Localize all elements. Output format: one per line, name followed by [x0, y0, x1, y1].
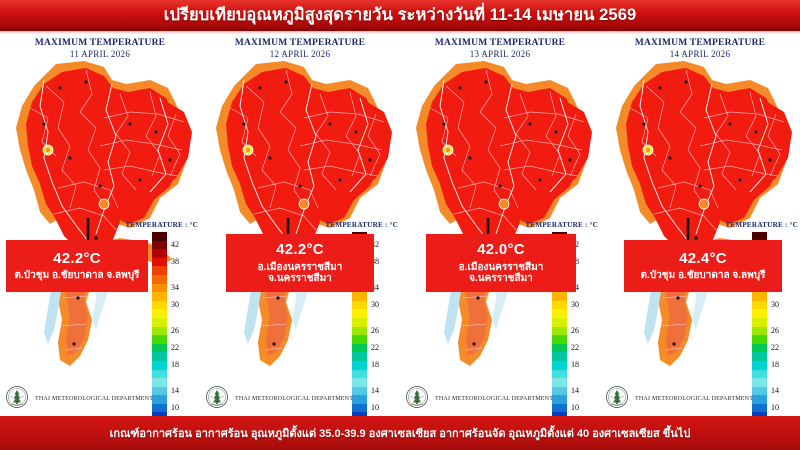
max-temp-callout[interactable]: 42.2°C อ.เมืองนครราชสีมาจ.นครราชสีมา [226, 234, 374, 292]
legend-caption: TEMPERATURE : °C [125, 221, 198, 229]
legend-swatch [152, 275, 167, 284]
legend-tick: 26 [371, 327, 379, 336]
department-name: THAI METEOROLOGICAL DEPARTMENT [35, 396, 153, 402]
legend-tick: 18 [771, 361, 779, 370]
legend-swatch [352, 309, 367, 318]
panel-header: MAXIMUM TEMPERATURE 14 APRIL 2026 [600, 34, 800, 59]
legend-row: 42 [152, 241, 196, 250]
legend-swatch [352, 292, 367, 301]
legend-row [552, 370, 596, 379]
max-temp-location: ต.บัวชุม อ.ชัยบาดาล จ.ลพบุรี [12, 270, 143, 282]
legend-row: 26 [352, 327, 396, 336]
legend-row [352, 309, 396, 318]
department-name: THAI METEOROLOGICAL DEPARTMENT [435, 396, 553, 402]
legend-tick: 22 [171, 344, 179, 353]
department-name: THAI METEOROLOGICAL DEPARTMENT [235, 396, 353, 402]
legend-swatch [552, 335, 567, 344]
legend-swatch [152, 284, 167, 293]
legend-swatch [752, 361, 767, 370]
footer-note: เกณฑ์อากาศร้อน อากาศร้อน อุณหภูมิตั้งแต่… [110, 424, 691, 442]
max-temp-location: อ.เมืองนครราชสีมาจ.นครราชสีมา [456, 262, 547, 285]
legend-row [752, 309, 796, 318]
legend-swatch [152, 266, 167, 275]
legend-swatch [552, 309, 567, 318]
legend-swatch [752, 335, 767, 344]
legend-tick: 22 [771, 344, 779, 353]
panel-footer: THAI METEOROLOGICAL DEPARTMENT [600, 384, 800, 414]
legend-row: 26 [152, 327, 196, 336]
legend-swatch [152, 327, 167, 336]
footer-bar: เกณฑ์อากาศร้อน อากาศร้อน อุณหภูมิตั้งแต่… [0, 416, 800, 450]
legend-tick: 22 [371, 344, 379, 353]
max-temp-callout[interactable]: 42.4°C ต.บัวชุม อ.ชัยบาดาล จ.ลพบุรี [624, 240, 782, 292]
map-panel-14-april[interactable]: MAXIMUM TEMPERATURE 14 APRIL 2026 [600, 34, 800, 416]
panel-heading: MAXIMUM TEMPERATURE [0, 38, 200, 48]
legend-swatch [152, 232, 167, 241]
legend-swatch [152, 361, 167, 370]
legend-row: 30 [552, 301, 596, 310]
tmd-seal-icon [406, 386, 428, 408]
panel-header: MAXIMUM TEMPERATURE 12 APRIL 2026 [200, 34, 400, 59]
tmd-seal-icon [606, 386, 628, 413]
tmd-seal-icon [206, 386, 228, 408]
legend-tick: 42 [171, 241, 179, 250]
legend-swatch [152, 258, 167, 267]
legend-tick: 18 [171, 361, 179, 370]
legend-tick: 18 [371, 361, 379, 370]
legend-swatch [552, 327, 567, 336]
legend-swatch [152, 309, 167, 318]
panel-header: MAXIMUM TEMPERATURE 11 APRIL 2026 [0, 34, 200, 59]
max-temp-location: อ.เมืองนครราชสีมาจ.นครราชสีมา [255, 262, 346, 285]
legend-swatch [152, 344, 167, 353]
legend-tick: 26 [571, 327, 579, 336]
legend-caption: TEMPERATURE : °C [325, 221, 398, 229]
legend-row: 22 [152, 344, 196, 353]
panel-footer: THAI METEOROLOGICAL DEPARTMENT [0, 384, 200, 414]
legend-row: 26 [552, 327, 596, 336]
legend-swatch [752, 292, 767, 301]
legend-swatch [152, 352, 167, 361]
legend-row: 18 [752, 361, 796, 370]
legend-row: 38 [152, 258, 196, 267]
legend-row: 18 [152, 361, 196, 370]
max-temp-callout[interactable]: 42.2°C ต.บัวชุม อ.ชัยบาดาล จ.ลพบุรี [6, 240, 148, 292]
legend-tick: 30 [371, 301, 379, 310]
legend-caption: TEMPERATURE : °C [525, 221, 598, 229]
legend-tick: 30 [571, 301, 579, 310]
tmd-seal-icon [406, 386, 428, 413]
legend-row: 30 [752, 301, 796, 310]
legend-swatch [552, 301, 567, 310]
legend-swatch [552, 292, 567, 301]
legend-tick: 34 [171, 284, 179, 293]
legend-swatch [552, 318, 567, 327]
legend-swatch [752, 370, 767, 379]
legend-swatch [352, 327, 367, 336]
legend-row: 22 [752, 344, 796, 353]
tmd-seal-icon [606, 386, 628, 408]
legend-swatch [552, 370, 567, 379]
panel-header: MAXIMUM TEMPERATURE 13 APRIL 2026 [400, 34, 600, 59]
legend-row: 34 [152, 284, 196, 293]
max-temp-value: 42.2°C [276, 241, 324, 258]
legend-row: 22 [552, 344, 596, 353]
tmd-seal-icon [6, 386, 28, 408]
legend-swatch [152, 241, 167, 250]
legend-row: 30 [352, 301, 396, 310]
legend-row [352, 370, 396, 379]
legend-row [752, 370, 796, 379]
legend-row: 30 [152, 301, 196, 310]
map-panel-11-april[interactable]: MAXIMUM TEMPERATURE 11 APRIL 2026 [0, 34, 200, 416]
map-panel-13-april[interactable]: MAXIMUM TEMPERATURE 13 APRIL 2026 [400, 34, 600, 416]
legend-tick: 30 [771, 301, 779, 310]
max-temp-value: 42.0°C [477, 241, 525, 258]
header-bar: เปรียบเทียบอุณหภูมิสูงสุดรายวัน ระหว่างว… [0, 0, 800, 31]
legend-tick: 30 [171, 301, 179, 310]
legend-swatch [352, 335, 367, 344]
legend-tick: 18 [571, 361, 579, 370]
legend-tick: 26 [771, 327, 779, 336]
legend-row [552, 309, 596, 318]
legend-swatch [752, 352, 767, 361]
legend-tick: 22 [571, 344, 579, 353]
infographic-root: เปรียบเทียบอุณหภูมิสูงสุดรายวัน ระหว่างว… [0, 0, 800, 450]
legend-swatch [152, 318, 167, 327]
legend-swatch [752, 318, 767, 327]
legend-swatch [152, 370, 167, 379]
panel-footer: THAI METEOROLOGICAL DEPARTMENT [400, 384, 600, 414]
legend-swatch [152, 292, 167, 301]
legend-swatch [552, 344, 567, 353]
legend-swatch [352, 318, 367, 327]
legend-swatch [352, 301, 367, 310]
legend-swatch [752, 327, 767, 336]
legend-swatch [152, 335, 167, 344]
legend-swatch [752, 301, 767, 310]
max-temp-callout[interactable]: 42.0°C อ.เมืองนครราชสีมาจ.นครราชสีมา [426, 234, 576, 292]
legend-swatch [552, 361, 567, 370]
legend-swatch [752, 344, 767, 353]
legend-row: 22 [352, 344, 396, 353]
legend-swatch [152, 301, 167, 310]
legend-swatch [152, 249, 167, 258]
panel-divider [600, 34, 601, 416]
legend-row [152, 370, 196, 379]
map-panel-12-april[interactable]: MAXIMUM TEMPERATURE 12 APRIL 2026 [200, 34, 400, 416]
legend-swatch [752, 309, 767, 318]
panel-heading: MAXIMUM TEMPERATURE [600, 38, 800, 48]
legend-tick: 38 [171, 258, 179, 267]
max-temp-value: 42.4°C [679, 250, 727, 267]
tmd-seal-icon [206, 386, 228, 413]
panel-footer: THAI METEOROLOGICAL DEPARTMENT [200, 384, 400, 414]
panel-divider [200, 34, 201, 416]
legend-row: 26 [752, 327, 796, 336]
legend-swatch [552, 352, 567, 361]
legend-row: 18 [352, 361, 396, 370]
legend-tick: 26 [171, 327, 179, 336]
tmd-seal-icon [6, 386, 28, 413]
page-title: เปรียบเทียบอุณหภูมิสูงสุดรายวัน ระหว่างว… [164, 2, 637, 28]
legend-swatch [352, 370, 367, 379]
legend-row [152, 309, 196, 318]
department-name: THAI METEOROLOGICAL DEPARTMENT [635, 396, 753, 402]
panel-heading: MAXIMUM TEMPERATURE [200, 38, 400, 48]
max-temp-value: 42.2°C [53, 250, 101, 267]
legend-swatch [352, 344, 367, 353]
panel-heading: MAXIMUM TEMPERATURE [400, 38, 600, 48]
legend-swatch [352, 352, 367, 361]
max-temp-location: ต.บัวชุม อ.ชัยบาดาล จ.ลพบุรี [638, 270, 769, 282]
panel-divider [400, 34, 401, 416]
legend-row [152, 266, 196, 275]
legend-row: 18 [552, 361, 596, 370]
legend-swatch [352, 361, 367, 370]
legend-caption: TEMPERATURE : °C [725, 221, 798, 229]
